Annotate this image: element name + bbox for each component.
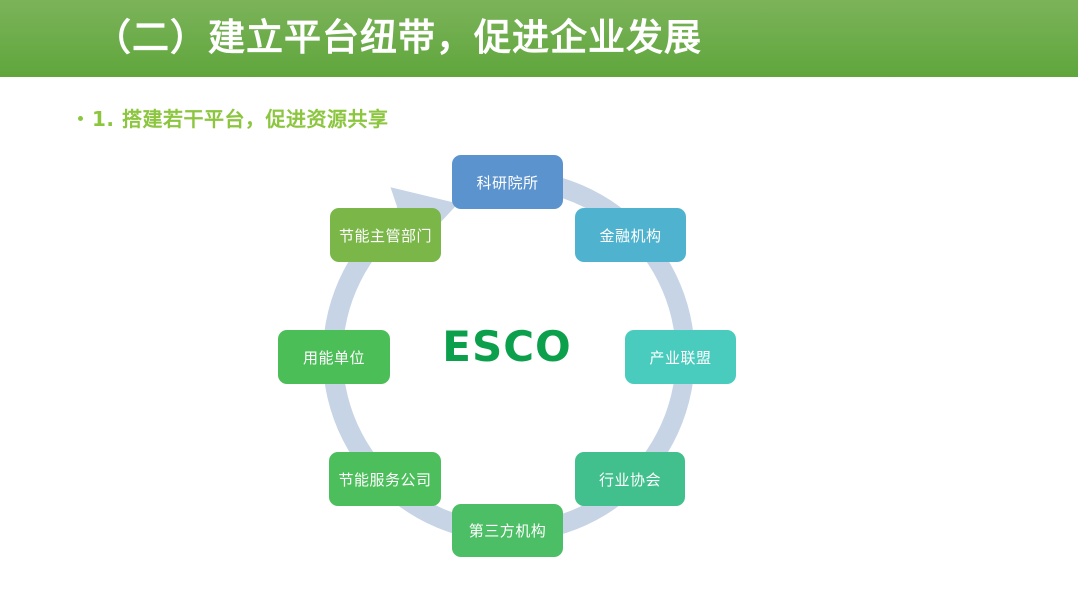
node-kyysuo[interactable]: 科研院所 [452, 155, 563, 209]
node-jnfwgs[interactable]: 节能服务公司 [329, 452, 441, 506]
node-label: 第三方机构 [469, 520, 547, 541]
subtitle-row: 1. 搭建若干平台，促进资源共享 [78, 103, 388, 132]
node-label: 节能主管部门 [339, 225, 432, 246]
node-label: 产业联盟 [649, 347, 711, 368]
node-label: 节能服务公司 [338, 469, 431, 490]
subtitle-text: 1. 搭建若干平台，促进资源共享 [92, 103, 388, 132]
node-jrjg[interactable]: 金融机构 [575, 208, 686, 262]
node-label: 行业协会 [599, 469, 661, 490]
node-dsfjg[interactable]: 第三方机构 [452, 504, 563, 557]
esco-cycle-diagram: ESCO 科研院所 金融机构 产业联盟 行业协会 第三方机构 节能服务公司 用能… [262, 140, 762, 590]
node-hyxh[interactable]: 行业协会 [575, 452, 685, 506]
bullet-icon [78, 116, 83, 121]
node-label: 用能单位 [303, 347, 365, 368]
slide-canvas: （二）建立平台纽带，促进企业发展 1. 搭建若干平台，促进资源共享 ESCO 科… [0, 0, 1078, 606]
node-label: 金融机构 [599, 225, 661, 246]
node-label: 科研院所 [476, 172, 538, 193]
node-yndw[interactable]: 用能单位 [278, 330, 390, 384]
header-banner: （二）建立平台纽带，促进企业发展 [0, 0, 1078, 77]
page-title: （二）建立平台纽带，促进企业发展 [94, 11, 702, 65]
node-cylm[interactable]: 产业联盟 [625, 330, 736, 384]
node-jnzgbm[interactable]: 节能主管部门 [330, 208, 441, 262]
